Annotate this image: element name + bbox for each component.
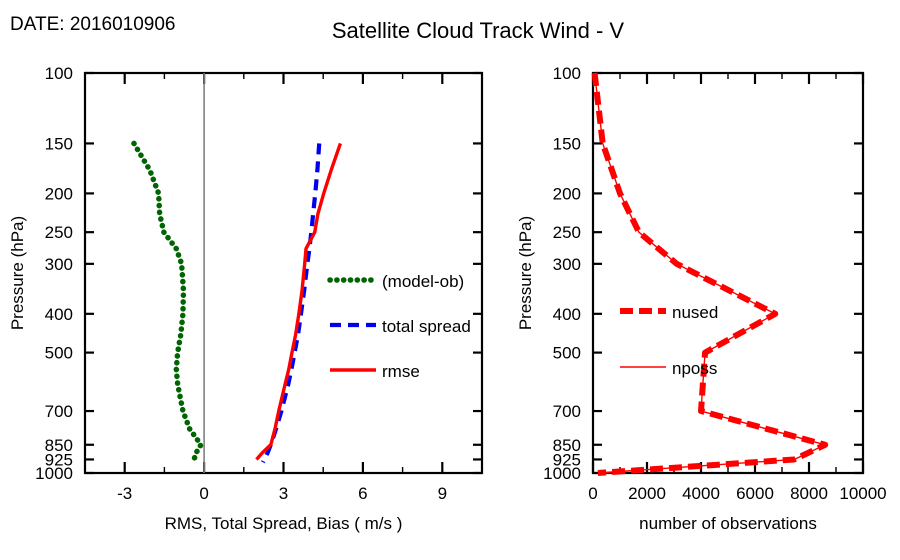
y-tick-label: 150 [45,134,73,153]
x-axis-title: number of observations [639,514,817,533]
x-tick-label: 6000 [736,484,774,503]
x-tick-label: 10000 [839,484,886,503]
y-tick-label: 300 [553,255,581,274]
x-tick-label: 6 [358,484,367,503]
page-title: Satellite Cloud Track Wind - V [332,18,625,43]
y-tick-label: 200 [553,184,581,203]
legend-label: total spread [382,317,471,336]
x-tick-label: -3 [117,484,132,503]
x-tick-label: 4000 [682,484,720,503]
y-tick-label: 500 [553,344,581,363]
y-tick-label: 150 [553,134,581,153]
date-label: DATE: 2016010906 [10,14,176,35]
x-axis-title: RMS, Total Spread, Bias ( m/s ) [165,514,403,533]
y-tick-label: 100 [553,64,581,83]
x-tick-label: 0 [588,484,597,503]
y-tick-label: 300 [45,255,73,274]
y-tick-label: 200 [45,184,73,203]
y-axis-title: Pressure (hPa) [516,216,535,330]
legend-label: nused [672,303,718,322]
y-tick-label: 700 [45,402,73,421]
x-tick-label: 2000 [628,484,666,503]
legend-label: (model-ob) [382,272,464,291]
legend-label: nposs [672,359,717,378]
y-tick-label: 1000 [35,464,73,483]
y-tick-label: 100 [45,64,73,83]
legend-label: rmse [382,362,420,381]
x-tick-label: 9 [438,484,447,503]
y-tick-label: 250 [45,223,73,242]
x-tick-label: 0 [199,484,208,503]
y-axis-title: Pressure (hPa) [8,216,27,330]
x-tick-label: 3 [279,484,288,503]
figure-canvas: DATE: 2016010906 Satellite Cloud Track W… [0,0,900,560]
y-tick-label: 1000 [543,464,581,483]
y-tick-label: 250 [553,223,581,242]
x-tick-label: 8000 [790,484,828,503]
plot-stage: DATE: 2016010906 Satellite Cloud Track W… [0,0,900,560]
y-tick-label: 700 [553,402,581,421]
y-tick-label: 500 [45,344,73,363]
y-tick-label: 400 [553,305,581,324]
y-tick-label: 400 [45,305,73,324]
